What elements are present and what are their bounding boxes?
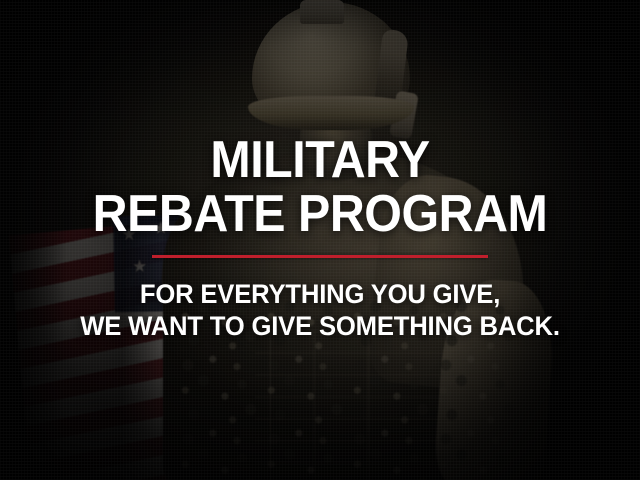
military-rebate-banner: ★ ★ ★ ★ ★ ★ MILITARY [0, 0, 640, 480]
headline-line-2: REBATE PROGRAM [22, 187, 617, 241]
headline: MILITARY REBATE PROGRAM [22, 0, 617, 241]
headline-line-1: MILITARY [22, 133, 617, 187]
subheadline: FOR EVERYTHING YOU GIVE, WE WANT TO GIVE… [16, 278, 624, 342]
subheadline-line-1: FOR EVERYTHING YOU GIVE, [16, 278, 624, 310]
text-overlay: MILITARY REBATE PROGRAM FOR EVERYTHING Y… [0, 0, 640, 480]
red-divider-rule [152, 255, 488, 258]
subheadline-line-2: WE WANT TO GIVE SOMETHING BACK. [16, 310, 624, 342]
